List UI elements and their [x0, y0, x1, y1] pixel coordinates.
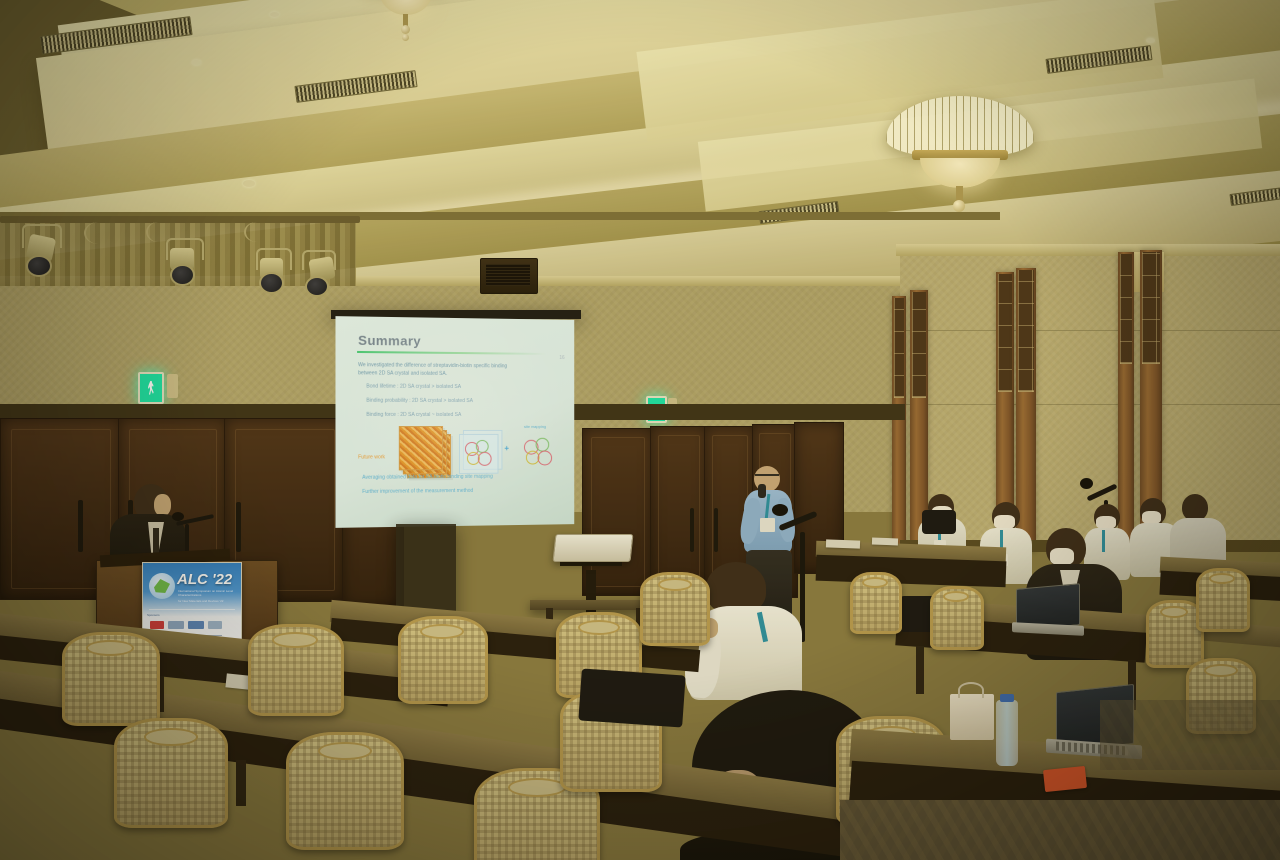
table-skirt: [816, 555, 1007, 588]
floor-microphone: [1080, 478, 1093, 489]
carpet: [1100, 700, 1280, 770]
lighting-cable: [244, 222, 270, 242]
slide-title: Summary: [358, 333, 421, 349]
conference-room-photo: Summary 16 We investigated the differenc…: [0, 0, 1280, 860]
figure-molecule-structure: [463, 438, 495, 468]
projection-screen: Summary 16 We investigated the differenc…: [335, 316, 574, 528]
lighting-cable: [146, 222, 170, 242]
slide-intro-line-2: between 2D SA crystal and isolated SA.: [358, 369, 553, 378]
exit-running-man-icon: [148, 381, 155, 395]
pilaster-lattice: [912, 292, 926, 398]
door-handle[interactable]: [714, 508, 718, 552]
door-handle[interactable]: [690, 508, 694, 552]
pilaster-lattice: [1018, 270, 1034, 392]
slide-bullet: Binding probability : 2D SA crystal > is…: [366, 398, 473, 404]
slide-bullet: Bond lifetime : 2D SA crystal > isolated…: [366, 383, 461, 390]
figure-molecule-structure: [522, 436, 555, 468]
face: [154, 494, 171, 516]
figure-site-mapping-label: site mapping: [524, 424, 546, 429]
spotlight-lens: [26, 255, 52, 277]
eyeglasses: [755, 474, 779, 481]
podium-sign-subtitle-2: for New Materials and Devices '22: [178, 599, 236, 603]
name-badge: [760, 518, 775, 532]
ceiling-sprinkler: [243, 180, 255, 187]
door-handle[interactable]: [78, 500, 83, 552]
wall-back-right: [900, 250, 1280, 550]
table-leg: [916, 646, 924, 694]
lanyard: [1102, 530, 1105, 552]
papers: [872, 538, 898, 546]
figure-plus-operator: +: [504, 444, 509, 453]
pilaster-lattice: [1142, 252, 1160, 364]
bottle-cap[interactable]: [1000, 694, 1014, 702]
carpet: [840, 800, 1280, 860]
handheld-microphone: [758, 484, 766, 498]
sponsor-logo: [168, 621, 184, 629]
pilaster-lattice: [998, 274, 1012, 392]
exit-sign-plate: [167, 374, 178, 398]
exit-sign: [138, 372, 164, 404]
necktie: [153, 528, 159, 554]
sponsor-logo: [208, 621, 222, 629]
spotlight-lens: [259, 272, 284, 294]
pilaster-lattice: [1120, 254, 1132, 364]
floor-microphone: [772, 504, 788, 516]
speaker-grille: [486, 264, 530, 286]
smoke-detector: [270, 12, 279, 17]
lighting-cable: [84, 222, 112, 244]
pilaster-lattice: [894, 298, 904, 398]
sponsor-logo: [150, 621, 164, 629]
chandelier-bead: [401, 25, 410, 34]
sponsor-logo: [188, 621, 204, 629]
door-handle[interactable]: [236, 502, 241, 552]
lighting-rail: [0, 216, 360, 223]
slide-future-item: Further improvement of the measurement m…: [362, 488, 473, 495]
spotlight-lens: [305, 276, 329, 297]
smoke-detector: [192, 60, 201, 65]
slide-bullet: Binding force : 2D SA crystal ~ isolated…: [366, 412, 461, 418]
podium-microphone: [172, 512, 184, 521]
bag: [578, 668, 685, 727]
projector: [553, 534, 634, 562]
wall-seam: [900, 330, 1280, 331]
face-mask: [994, 515, 1015, 529]
bag: [922, 510, 956, 534]
chandelier-bead: [402, 34, 409, 41]
smoke-detector: [1146, 38, 1155, 43]
papers: [826, 539, 860, 548]
face-mask: [1050, 548, 1074, 565]
chandelier-bead: [953, 200, 965, 212]
podium-sign-subtitle-1: International Symposium on Atomic Level …: [178, 589, 236, 597]
podium-sign-sponsor-label: Sponsors: [147, 613, 160, 617]
wall-cornice-right: [896, 244, 1280, 256]
slide-page-number: 16: [559, 355, 564, 361]
table-leg: [236, 760, 246, 806]
paper-bag: [950, 694, 994, 740]
paper-bag-handle: [958, 682, 984, 698]
spotlight-lens: [170, 264, 195, 286]
podium-sign-title: ALC '22: [177, 571, 232, 588]
slide-future-item: Averaging obtained data for SA-biotin bi…: [362, 474, 493, 481]
orange-notebook[interactable]: [1043, 766, 1087, 792]
wall-seam: [900, 404, 1280, 405]
figure-afm-image: [399, 426, 443, 470]
floor-mic-stand: [800, 532, 805, 642]
water-bottle[interactable]: [996, 700, 1018, 766]
head: [1182, 494, 1208, 521]
slide-future-heading: Future work: [358, 454, 385, 460]
